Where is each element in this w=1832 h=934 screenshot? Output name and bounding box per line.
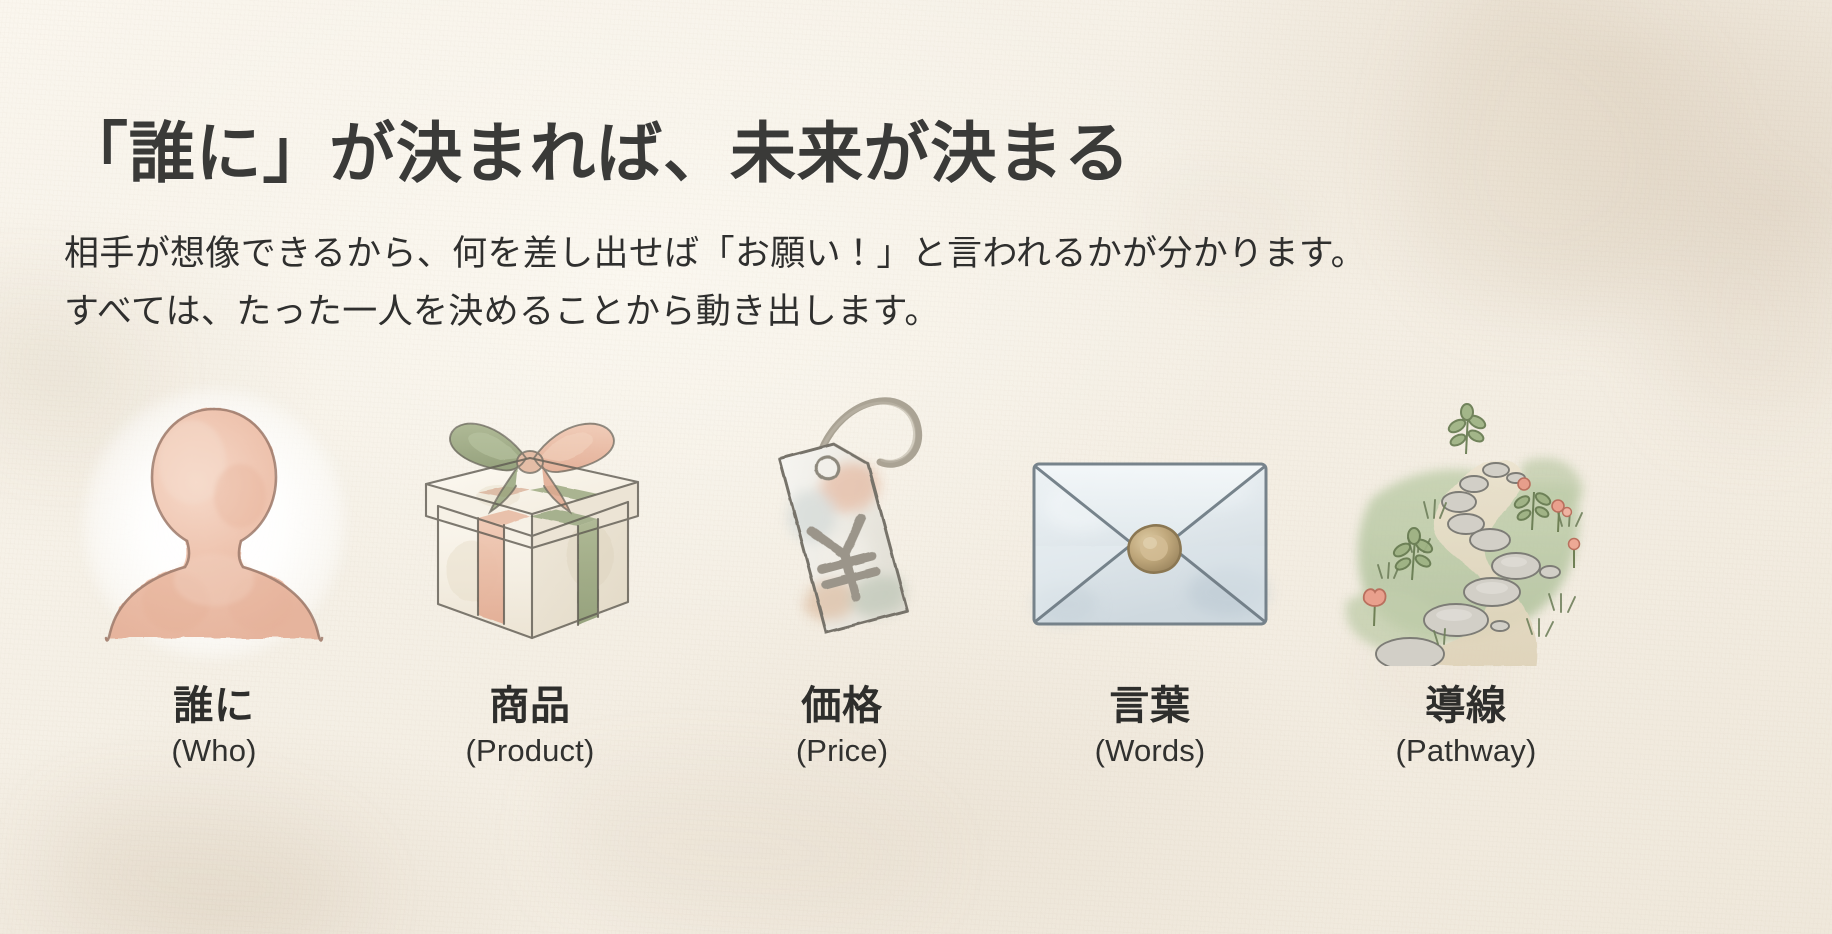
stage-label-jp: 導線 (1316, 684, 1616, 728)
stage-label-jp: 誰に (64, 684, 364, 728)
flow-stage-product: 商品 (Product) (380, 366, 680, 886)
stage-label-en: (Words) (1000, 732, 1300, 771)
subtitle-line-1: 相手が想像できるから、何を差し出せば「お願い！」と言われるかが分かります。 (64, 225, 1366, 276)
slide-canvas: 「誰に」が決まれば、未来が決まる 相手が想像できるから、何を差し出せば「お願い！… (0, 0, 1832, 934)
flow-stage-words: 言葉 (Words) (1000, 366, 1300, 886)
stage-label-en: (Price) (692, 732, 992, 771)
stage-label-en: (Pathway) (1316, 732, 1616, 771)
envelope-icon (1000, 366, 1300, 666)
stage-caption-product: 商品 (Product) (380, 684, 680, 771)
price-tag-yen-icon (692, 366, 992, 666)
stage-caption-who: 誰に (Who) (64, 684, 364, 771)
stage-label-jp: 言葉 (1000, 684, 1300, 728)
flow-diagram: 誰に (Who) (0, 366, 1832, 886)
gift-box-icon (380, 366, 680, 666)
price-tag-art (692, 366, 992, 666)
gift-box-art (380, 366, 680, 666)
person-silhouette-art (64, 366, 364, 666)
page-title: 「誰に」が決まれば、未来が決まる (62, 100, 1131, 196)
stage-caption-price: 価格 (Price) (692, 684, 992, 771)
stage-label-jp: 価格 (692, 684, 992, 728)
subtitle-line-2: すべては、たった一人を決めることから動き出します。 (64, 283, 940, 334)
stone-pathway-icon (1316, 366, 1616, 666)
stone-pathway-art (1316, 366, 1616, 666)
flow-stage-who: 誰に (Who) (64, 366, 364, 886)
flow-stage-price: 価格 (Price) (692, 366, 992, 886)
stage-caption-words: 言葉 (Words) (1000, 684, 1300, 771)
stage-label-jp: 商品 (380, 684, 680, 728)
stage-label-en: (Who) (64, 732, 364, 771)
person-silhouette-icon (64, 366, 364, 666)
stage-label-en: (Product) (380, 732, 680, 771)
flow-stage-pathway: 導線 (Pathway) (1316, 366, 1616, 886)
envelope-art (1000, 366, 1300, 666)
stage-caption-pathway: 導線 (Pathway) (1316, 684, 1616, 771)
